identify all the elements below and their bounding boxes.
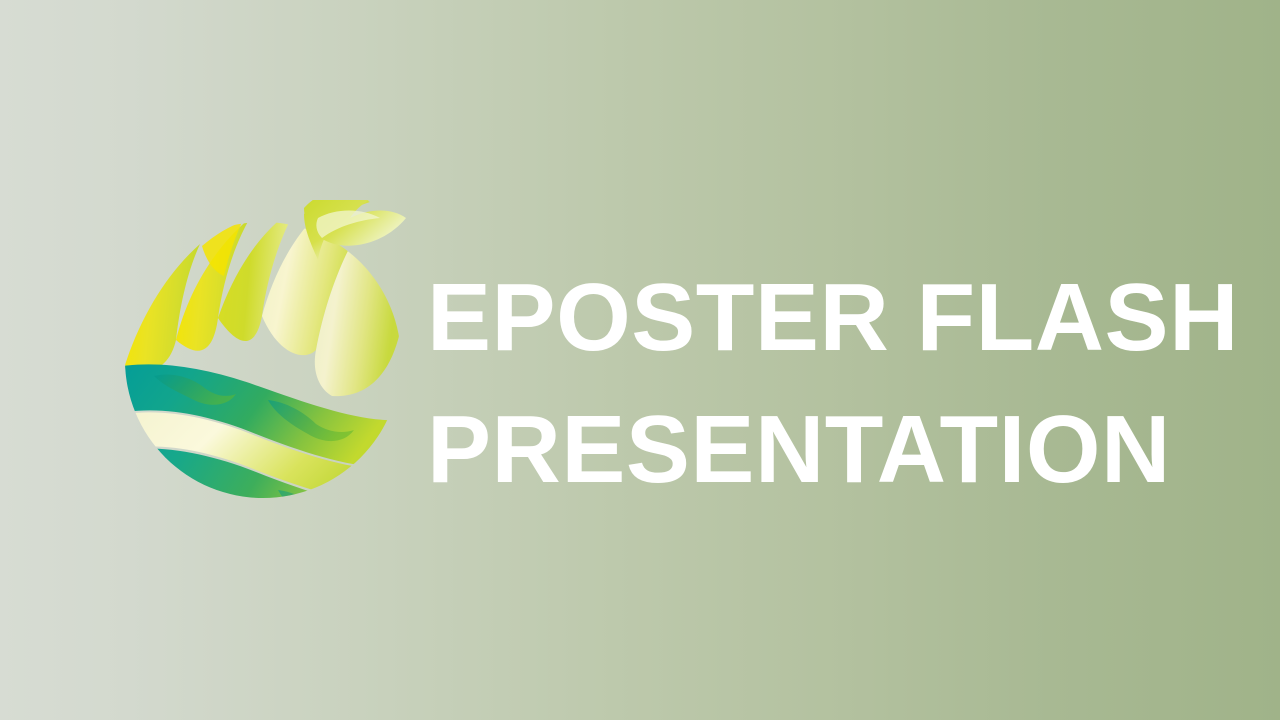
page-title: EPOSTER FLASH PRESENTATION <box>427 252 1207 516</box>
globe-ribbon-leaf-logo <box>118 200 408 520</box>
title-line-2: PRESENTATION <box>427 384 1207 516</box>
ribbon-band-cream-2 <box>118 494 406 520</box>
title-slide: EPOSTER FLASH PRESENTATION <box>0 0 1280 720</box>
title-line-1: EPOSTER FLASH <box>427 252 1207 384</box>
globe-bands <box>118 200 406 520</box>
